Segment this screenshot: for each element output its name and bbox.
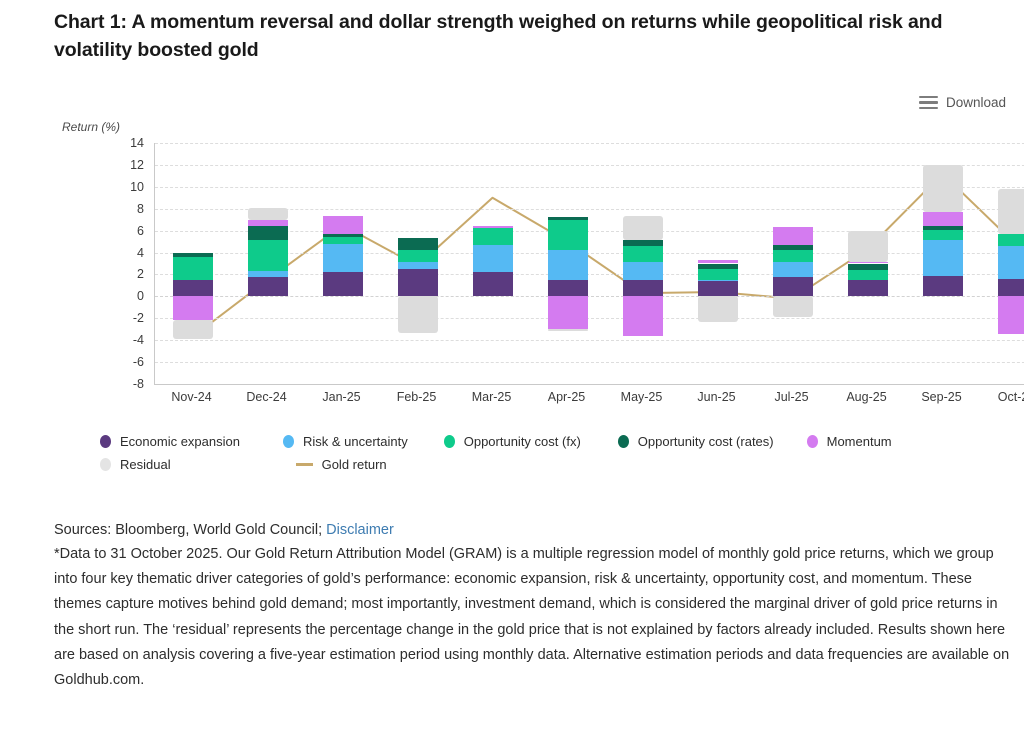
- x-axis-tick-label: Jul-25: [774, 390, 808, 404]
- x-axis-tick-label: Mar-25: [472, 390, 512, 404]
- bar-segment: [398, 238, 438, 250]
- bar-segment: [773, 245, 813, 250]
- legend-item-label: Opportunity cost (rates): [638, 434, 774, 449]
- footnote-text: *Data to 31 October 2025. Our Gold Retur…: [54, 542, 1016, 693]
- y-axis-tick-label: 12: [84, 158, 144, 172]
- bar-segment: [623, 240, 663, 245]
- bar-segment-residual: [398, 296, 438, 332]
- bar-segment: [848, 270, 888, 280]
- y-axis-tick-label: 10: [84, 180, 144, 194]
- legend-item[interactable]: Momentum: [807, 434, 892, 449]
- bar-segment: [473, 228, 513, 244]
- y-axis-tick-label: 4: [84, 246, 144, 260]
- bar-segment-residual: [623, 216, 663, 240]
- bar-segment: [548, 217, 588, 219]
- bar-group[interactable]: [848, 143, 888, 384]
- hamburger-menu-icon: [919, 96, 938, 110]
- x-axis-tick-label: Feb-25: [397, 390, 437, 404]
- x-axis-tick-label: Nov-24: [171, 390, 211, 404]
- chart-container: Return (%) 14121086420-2-4-6-8 Nov-24Dec…: [54, 118, 1009, 478]
- bar-segment: [173, 296, 213, 320]
- bar-segment-residual: [248, 208, 288, 220]
- bar-segment: [323, 244, 363, 272]
- page-title: Chart 1: A momentum reversal and dollar …: [54, 8, 999, 64]
- bar-segment: [173, 257, 213, 280]
- bar-segment: [698, 269, 738, 280]
- bar-group[interactable]: [473, 143, 513, 384]
- bar-segment: [923, 240, 963, 275]
- bar-segment: [773, 262, 813, 276]
- x-axis-tick-label: Jan-25: [322, 390, 360, 404]
- legend-dot-marker: [807, 435, 818, 448]
- bar-segment-residual: [548, 329, 588, 331]
- legend-item-label: Economic expansion: [120, 434, 240, 449]
- bar-segment: [173, 253, 213, 257]
- legend-item-label: Momentum: [827, 434, 892, 449]
- bar-group[interactable]: [998, 143, 1024, 384]
- bar-segment-residual: [173, 320, 213, 339]
- legend-item[interactable]: Economic expansion: [100, 434, 240, 449]
- bar-segment: [473, 245, 513, 272]
- bar-segment: [248, 220, 288, 227]
- bar-segment: [548, 220, 588, 251]
- bar-segment-residual: [698, 296, 738, 321]
- bar-segment: [473, 272, 513, 296]
- bar-segment: [998, 234, 1024, 246]
- legend-item-label: Opportunity cost (fx): [464, 434, 581, 449]
- x-axis-tick-label: Dec-24: [246, 390, 286, 404]
- bar-segment: [923, 226, 963, 229]
- bar-segment: [248, 271, 288, 276]
- y-axis-tick-label: 6: [84, 224, 144, 238]
- bar-segment: [248, 226, 288, 240]
- bar-segment: [623, 296, 663, 335]
- bar-segment: [698, 264, 738, 269]
- bar-group[interactable]: [923, 143, 963, 384]
- bar-group[interactable]: [248, 143, 288, 384]
- legend-item[interactable]: Residual: [100, 457, 171, 472]
- y-axis-tick-label: -2: [84, 311, 144, 325]
- bar-segment: [398, 250, 438, 262]
- bar-segment: [398, 262, 438, 269]
- bar-group[interactable]: [173, 143, 213, 384]
- download-label: Download: [946, 95, 1006, 110]
- bar-group[interactable]: [323, 143, 363, 384]
- bar-segment: [623, 280, 663, 296]
- bar-segment: [623, 262, 663, 280]
- bar-group[interactable]: [698, 143, 738, 384]
- y-axis-tick-label: 14: [84, 136, 144, 150]
- sources-line: Sources: Bloomberg, World Gold Council; …: [54, 518, 1014, 543]
- bar-segment-residual: [923, 165, 963, 212]
- bar-segment-residual: [773, 296, 813, 317]
- bar-segment: [248, 240, 288, 271]
- y-axis-title: Return (%): [62, 120, 120, 134]
- disclaimer-link[interactable]: Disclaimer: [326, 522, 394, 538]
- bar-segment-residual: [848, 231, 888, 263]
- legend-dot-marker: [100, 458, 111, 471]
- legend-item[interactable]: Risk & uncertainty: [283, 434, 408, 449]
- bar-segment: [923, 212, 963, 226]
- chart-page: Chart 1: A momentum reversal and dollar …: [0, 0, 1024, 733]
- bar-segment: [998, 279, 1024, 297]
- x-axis-tick-label: Jun-25: [697, 390, 735, 404]
- bar-segment: [698, 280, 738, 281]
- bar-segment: [848, 280, 888, 296]
- x-axis-line: [154, 384, 1024, 385]
- bar-segment: [548, 280, 588, 296]
- legend-dot-marker: [444, 435, 455, 448]
- bar-group[interactable]: [548, 143, 588, 384]
- bar-segment: [848, 264, 888, 271]
- x-axis-tick-label: Sep-25: [921, 390, 961, 404]
- bar-segment: [923, 230, 963, 241]
- bar-segment: [623, 246, 663, 262]
- gold-return-polyline: [193, 174, 1018, 337]
- legend-item-label: Residual: [120, 457, 171, 472]
- bar-segment: [323, 237, 363, 244]
- plot-wrapper: [154, 143, 1024, 398]
- bar-segment: [323, 272, 363, 296]
- bar-segment: [773, 250, 813, 262]
- x-axis-labels: Nov-24Dec-24Jan-25Feb-25Mar-25Apr-25May-…: [154, 390, 1024, 414]
- bar-segment: [848, 262, 888, 263]
- y-axis-tick-label: -6: [84, 355, 144, 369]
- bar-segment: [323, 234, 363, 237]
- y-axis-tick-label: -4: [84, 333, 144, 347]
- y-axis-tick-label: 0: [84, 289, 144, 303]
- x-axis-tick-label: May-25: [621, 390, 663, 404]
- x-axis-tick-label: Oct-25: [998, 390, 1024, 404]
- bar-segment: [173, 280, 213, 296]
- download-button[interactable]: Download: [919, 95, 1006, 110]
- legend-dot-marker: [100, 435, 111, 448]
- y-axis-tick-label: 8: [84, 202, 144, 216]
- legend-item-label: Risk & uncertainty: [303, 434, 408, 449]
- bar-segment: [998, 246, 1024, 279]
- plot-area: [154, 143, 1024, 384]
- legend-dot-marker: [618, 435, 629, 448]
- sources-text: Sources: Bloomberg, World Gold Council;: [54, 522, 326, 538]
- y-axis-tick-label: 2: [84, 267, 144, 281]
- legend-row-2: ResidualGold return: [100, 453, 1015, 476]
- bar-segment: [398, 269, 438, 296]
- bar-group[interactable]: [623, 143, 663, 384]
- bar-group[interactable]: [398, 143, 438, 384]
- bar-segment: [698, 281, 738, 296]
- bar-group[interactable]: [773, 143, 813, 384]
- bar-segment-residual: [998, 189, 1024, 234]
- y-axis-tick-label: -8: [84, 377, 144, 391]
- bar-segment: [548, 296, 588, 329]
- x-axis-tick-label: Aug-25: [846, 390, 886, 404]
- y-axis-ticks: 14121086420-2-4-6-8: [84, 143, 144, 384]
- legend-row-1: Economic expansionRisk & uncertaintyOppo…: [100, 430, 1015, 453]
- legend-item[interactable]: Gold return: [296, 457, 387, 472]
- bar-segment: [323, 216, 363, 234]
- legend-item[interactable]: Opportunity cost (rates): [618, 434, 774, 449]
- legend-line-marker: [296, 463, 313, 466]
- bar-segment: [548, 250, 588, 280]
- legend-dot-marker: [283, 435, 294, 448]
- legend-item-label: Gold return: [322, 457, 387, 472]
- bar-segment: [773, 277, 813, 297]
- bar-segment: [248, 277, 288, 297]
- bar-segment: [923, 276, 963, 297]
- bar-segment: [473, 226, 513, 228]
- bar-segment: [773, 227, 813, 245]
- bar-segment: [998, 296, 1024, 333]
- x-axis-tick-label: Apr-25: [548, 390, 586, 404]
- chart-legend: Economic expansionRisk & uncertaintyOppo…: [100, 430, 1015, 476]
- legend-item[interactable]: Opportunity cost (fx): [444, 434, 581, 449]
- bar-segment: [698, 260, 738, 263]
